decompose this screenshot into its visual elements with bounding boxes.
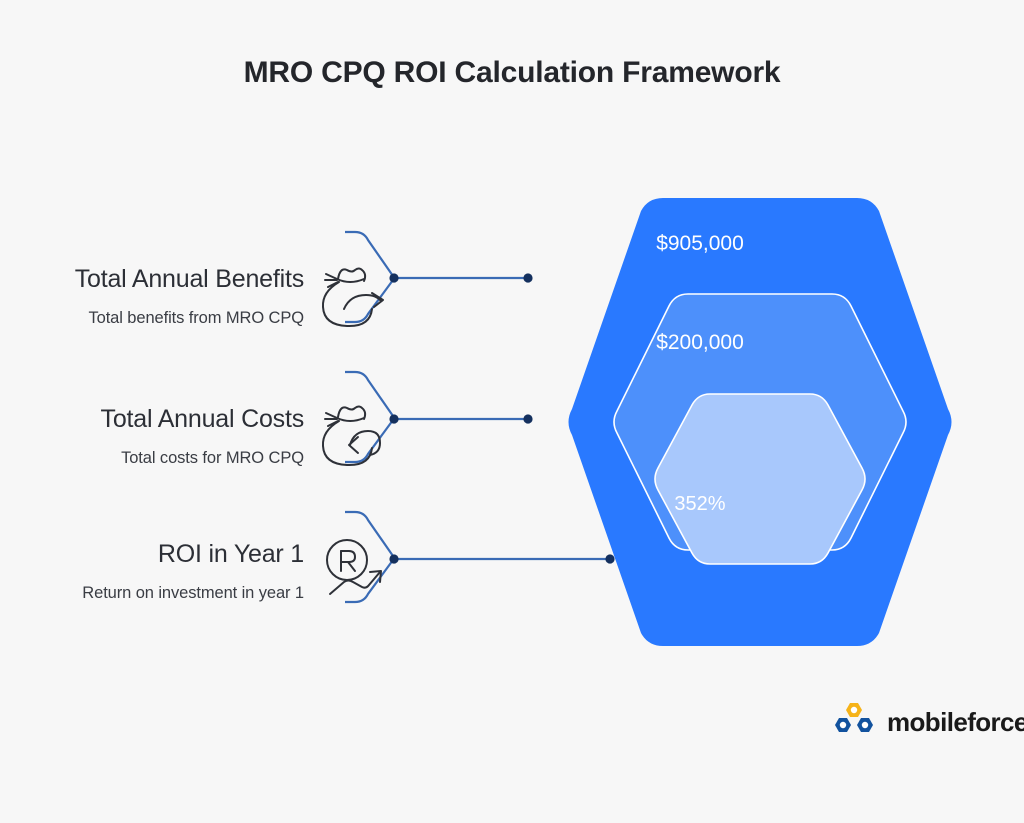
- item-subtitle: Return on investment in year 1: [82, 584, 304, 603]
- money-bag-inflow-icon: [314, 397, 400, 479]
- money-bag-outflow-icon: [314, 257, 400, 339]
- mobileforce-logo[interactable]: mobileforce: [832, 700, 1024, 744]
- item-title: Total Annual Benefits: [75, 265, 304, 294]
- outer-hexagon: [569, 198, 952, 646]
- item-title: Total Annual Costs: [101, 405, 304, 434]
- infographic-canvas: MRO CPQ ROI Calculation Framework $905,0…: [0, 0, 1024, 823]
- connector-dot-right-1: [523, 273, 532, 282]
- connector-dot-right-2: [523, 414, 532, 423]
- item-title: ROI in Year 1: [158, 540, 304, 569]
- middle-hexagon-value: $200,000: [600, 331, 800, 355]
- outer-hexagon-value: $905,000: [600, 232, 800, 256]
- logo-wordmark: mobileforce: [887, 709, 1024, 735]
- connector-dot-right-3: [605, 554, 614, 563]
- item-subtitle: Total costs for MRO CPQ: [121, 449, 304, 468]
- page-title: MRO CPQ ROI Calculation Framework: [0, 56, 1024, 90]
- roi-growth-icon: [314, 532, 400, 614]
- inner-hexagon: [655, 394, 865, 564]
- inner-hexagon-value: 352%: [615, 493, 785, 516]
- hexagon-trio-logo-icon: [832, 701, 878, 743]
- item-subtitle: Total benefits from MRO CPQ: [88, 309, 304, 328]
